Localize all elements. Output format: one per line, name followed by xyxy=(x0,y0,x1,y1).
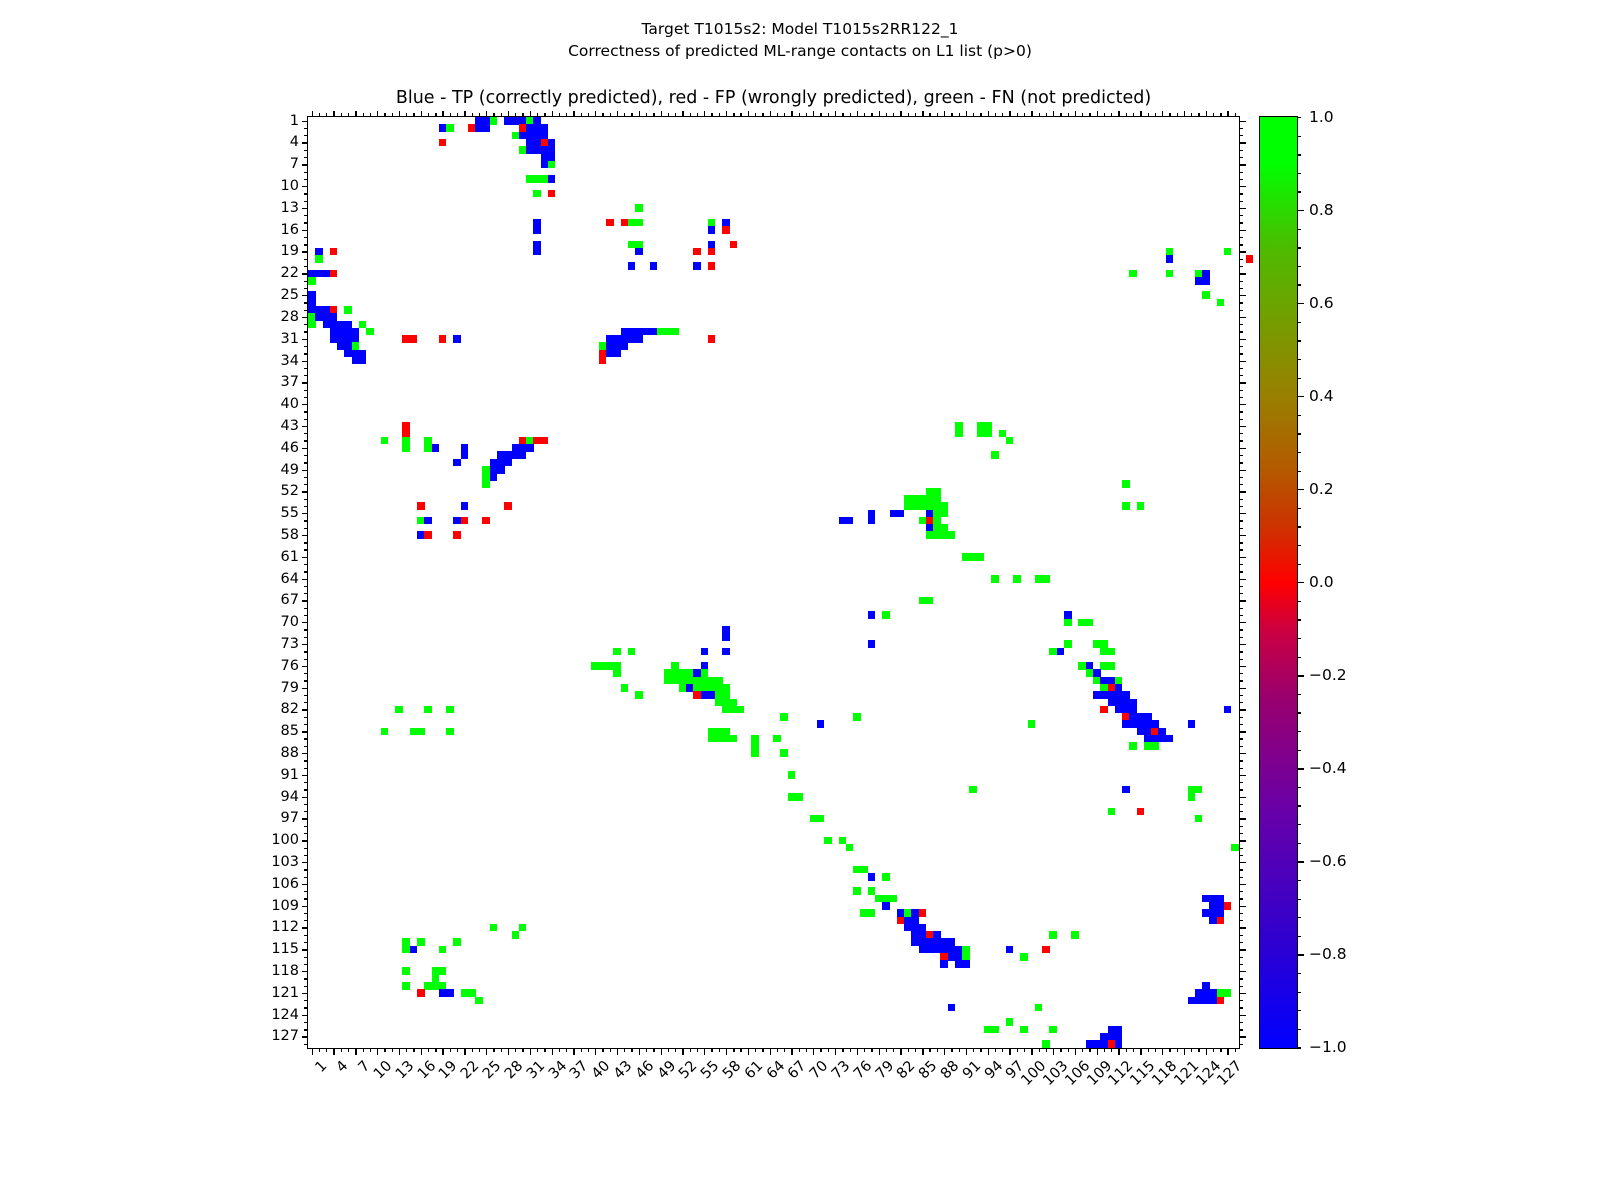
contact-cell xyxy=(722,226,730,234)
y-tick xyxy=(304,811,308,812)
y-tick xyxy=(302,317,309,318)
contact-cell xyxy=(650,262,658,270)
x-tick xyxy=(421,1048,422,1055)
y-tick xyxy=(302,295,309,296)
contact-cell xyxy=(882,873,890,881)
x-tick xyxy=(842,1048,843,1052)
y-tick xyxy=(304,957,308,958)
y-tick-right xyxy=(1239,186,1246,187)
y-tick xyxy=(304,549,308,550)
y-tick xyxy=(304,281,308,282)
contact-map-axes[interactable]: 1144771010131316161919222225252828313134… xyxy=(307,116,1240,1049)
y-tick-right xyxy=(1239,731,1246,732)
y-tick xyxy=(302,404,309,405)
x-tick xyxy=(762,1048,763,1052)
contact-cell xyxy=(424,517,432,525)
x-tick xyxy=(1140,1048,1141,1055)
y-tick xyxy=(304,310,308,311)
x-tick-top xyxy=(842,113,843,117)
y-tick-right xyxy=(1239,804,1243,805)
y-tick xyxy=(304,1022,308,1023)
y-tick-right xyxy=(1239,361,1246,362)
x-tick xyxy=(748,1048,749,1055)
contact-cell xyxy=(635,204,643,212)
contact-cell xyxy=(599,357,607,365)
colorbar-minor-tick xyxy=(1297,880,1301,881)
contact-cell xyxy=(1042,946,1050,954)
y-tick xyxy=(304,455,308,456)
contact-cell xyxy=(504,502,512,510)
colorbar-minor-tick xyxy=(1297,191,1301,192)
y-tick xyxy=(302,709,309,710)
contact-cell xyxy=(541,437,549,445)
y-tick-right xyxy=(1239,622,1246,623)
colorbar-minor-tick xyxy=(1297,247,1301,248)
y-tick xyxy=(302,1036,309,1037)
contact-cell xyxy=(1217,917,1225,925)
contact-cell xyxy=(635,691,643,699)
contact-cell xyxy=(548,190,556,198)
x-tick xyxy=(1133,1048,1134,1052)
y-tick xyxy=(302,840,309,841)
y-tick-label: 61 xyxy=(281,549,299,565)
contact-cell xyxy=(1217,997,1225,1005)
y-tick xyxy=(302,884,309,885)
y-tick-right xyxy=(1239,491,1246,492)
y-tick-label: 115 xyxy=(271,941,299,957)
y-tick xyxy=(304,520,308,521)
x-tick-top xyxy=(828,113,829,117)
x-tick xyxy=(820,1048,821,1052)
x-tick-top xyxy=(1097,111,1098,118)
x-tick-top xyxy=(1140,111,1141,118)
x-tick-top xyxy=(1184,111,1185,118)
contact-cell xyxy=(446,989,454,997)
colorbar-minor-tick xyxy=(1297,712,1301,713)
colorbar-minor-tick xyxy=(1297,471,1301,472)
x-tick-top xyxy=(1148,113,1149,117)
y-tick-right xyxy=(1239,404,1246,405)
x-tick xyxy=(857,1048,858,1055)
x-tick xyxy=(493,1048,494,1052)
contact-cell xyxy=(453,531,461,539)
y-tick-label: 67 xyxy=(281,592,299,608)
x-tick xyxy=(1024,1048,1025,1052)
contact-cell xyxy=(1115,1040,1123,1048)
x-tick xyxy=(791,1048,792,1055)
y-tick xyxy=(304,324,308,325)
x-tick xyxy=(1206,1048,1207,1055)
x-tick xyxy=(799,1048,800,1052)
contact-cell xyxy=(940,510,948,518)
x-tick xyxy=(835,1048,836,1055)
y-tick-right xyxy=(1239,273,1246,274)
x-tick xyxy=(879,1048,880,1055)
x-tick-top xyxy=(653,113,654,117)
y-tick-right xyxy=(1239,528,1243,529)
contact-cell xyxy=(1166,735,1174,743)
y-tick xyxy=(304,833,308,834)
y-tick xyxy=(302,971,309,972)
x-tick xyxy=(915,1048,916,1052)
y-tick xyxy=(304,1007,308,1008)
y-tick xyxy=(302,927,309,928)
y-tick xyxy=(304,848,308,849)
x-tick xyxy=(1075,1048,1076,1055)
y-tick-label: 109 xyxy=(271,898,299,914)
y-tick xyxy=(304,942,308,943)
y-tick-right xyxy=(1239,579,1246,580)
contact-cell xyxy=(991,451,999,459)
x-tick xyxy=(392,1048,393,1052)
y-tick xyxy=(304,804,308,805)
contact-cell xyxy=(1166,270,1174,278)
y-tick-right xyxy=(1239,986,1243,987)
contact-cell xyxy=(446,124,454,132)
x-tick-top xyxy=(929,113,930,117)
x-tick xyxy=(479,1048,480,1052)
x-tick-top xyxy=(522,113,523,117)
y-tick xyxy=(302,557,309,558)
y-tick-right xyxy=(1239,230,1246,231)
x-tick xyxy=(486,1048,487,1055)
contact-cell xyxy=(446,728,454,736)
colorbar-minor-tick xyxy=(1297,173,1301,174)
contact-cell xyxy=(693,248,701,256)
x-tick-top xyxy=(1206,111,1207,118)
x-tick-top xyxy=(704,111,705,118)
y-tick-right xyxy=(1239,506,1243,507)
x-tick-top xyxy=(762,113,763,117)
colorbar-minor-tick xyxy=(1297,229,1301,230)
contact-cell xyxy=(1071,931,1079,939)
contact-cell xyxy=(344,306,352,314)
y-tick xyxy=(302,426,309,427)
y-tick xyxy=(304,499,308,500)
y-tick xyxy=(304,702,308,703)
x-tick xyxy=(573,1048,574,1055)
contact-cell xyxy=(1108,648,1116,656)
y-tick xyxy=(304,288,308,289)
x-tick-top xyxy=(915,113,916,117)
contact-cell xyxy=(410,946,418,954)
colorbar-minor-tick xyxy=(1297,936,1301,937)
x-tick xyxy=(435,1048,436,1052)
y-tick xyxy=(302,448,309,449)
x-tick-top xyxy=(428,113,429,117)
y-tick-right xyxy=(1239,1044,1243,1045)
x-tick-top xyxy=(348,113,349,117)
contact-cell xyxy=(773,735,781,743)
y-tick xyxy=(304,390,308,391)
y-tick-right xyxy=(1239,651,1243,652)
x-tick xyxy=(566,1048,567,1052)
x-tick-top xyxy=(661,111,662,118)
x-tick-top xyxy=(1111,113,1112,117)
y-tick-right xyxy=(1239,782,1243,783)
colorbar-minor-tick xyxy=(1297,917,1301,918)
y-tick-right xyxy=(1239,215,1243,216)
colorbar-tick-label: −0.8 xyxy=(1309,945,1347,963)
colorbar-minor-tick xyxy=(1297,657,1301,658)
colorbar-minor-tick xyxy=(1297,340,1301,341)
y-tick xyxy=(304,353,308,354)
x-tick-top xyxy=(617,111,618,118)
y-tick-label: 37 xyxy=(281,374,299,390)
x-tick-top xyxy=(479,113,480,117)
y-tick-right xyxy=(1239,709,1246,710)
colorbar-minor-tick xyxy=(1297,545,1301,546)
y-tick xyxy=(302,579,309,580)
y-tick xyxy=(302,862,309,863)
y-tick-right xyxy=(1239,339,1246,340)
contact-cell xyxy=(890,895,898,903)
y-tick xyxy=(304,477,308,478)
colorbar: 1.00.80.60.40.20.0−0.2−0.4−0.6−0.8−1.0 xyxy=(1259,116,1298,1049)
y-tick-right xyxy=(1239,608,1243,609)
x-tick xyxy=(929,1048,930,1052)
contact-cell xyxy=(737,706,745,714)
y-tick-label: 16 xyxy=(281,222,299,238)
x-tick xyxy=(1104,1048,1105,1052)
contact-cell xyxy=(722,648,730,656)
x-tick xyxy=(646,1048,647,1052)
contact-cell xyxy=(1020,1026,1028,1034)
x-tick xyxy=(980,1048,981,1052)
y-tick-right xyxy=(1239,382,1246,383)
y-tick-right xyxy=(1239,789,1243,790)
y-tick-label: 73 xyxy=(281,636,299,652)
x-tick xyxy=(1184,1048,1185,1055)
x-tick xyxy=(522,1048,523,1052)
x-tick xyxy=(900,1048,901,1055)
y-tick-label: 76 xyxy=(281,658,299,674)
contact-cell xyxy=(366,328,374,336)
contact-cell xyxy=(1042,1040,1050,1048)
x-tick xyxy=(624,1048,625,1052)
contact-cell xyxy=(439,946,447,954)
contact-cell xyxy=(548,175,556,183)
contact-cell xyxy=(1195,815,1203,823)
contact-cell xyxy=(635,248,643,256)
y-tick-right xyxy=(1239,470,1246,471)
x-tick-top xyxy=(755,113,756,117)
x-tick xyxy=(544,1048,545,1052)
x-tick xyxy=(631,1048,632,1052)
x-tick xyxy=(501,1048,502,1052)
contact-cell xyxy=(519,451,527,459)
y-tick xyxy=(304,695,308,696)
figure-root: Target T1015s2: Model T1015s2RR122_1 Cor… xyxy=(0,0,1600,1200)
contact-cell xyxy=(853,713,861,721)
x-tick-top xyxy=(697,113,698,117)
x-tick-top xyxy=(501,113,502,117)
y-tick xyxy=(304,375,308,376)
contact-map-cells xyxy=(308,117,1239,1048)
y-tick xyxy=(304,673,308,674)
contact-cell xyxy=(1108,662,1116,670)
colorbar-minor-tick xyxy=(1297,899,1301,900)
y-tick-label: 64 xyxy=(281,571,299,587)
y-tick xyxy=(304,542,308,543)
contact-cell xyxy=(708,248,716,256)
x-tick xyxy=(1002,1048,1003,1052)
contact-cell xyxy=(453,335,461,343)
x-tick-top xyxy=(1198,113,1199,117)
x-tick-label: 46 xyxy=(633,1058,657,1082)
y-tick-right xyxy=(1239,826,1243,827)
y-tick-label: 4 xyxy=(290,134,299,150)
x-tick-top xyxy=(1075,111,1076,118)
colorbar-minor-tick xyxy=(1297,694,1301,695)
colorbar-minor-tick xyxy=(1297,303,1301,304)
colorbar-minor-tick xyxy=(1297,284,1301,285)
y-tick xyxy=(304,869,308,870)
contact-cell xyxy=(1246,255,1254,263)
contact-cell xyxy=(533,226,541,234)
y-tick-right xyxy=(1239,288,1243,289)
y-tick-right xyxy=(1239,426,1246,427)
y-tick xyxy=(304,179,308,180)
y-tick-right xyxy=(1239,862,1246,863)
x-tick-top xyxy=(355,111,356,118)
contact-cell xyxy=(461,502,469,510)
x-tick xyxy=(457,1048,458,1052)
y-tick-right xyxy=(1239,535,1246,536)
x-tick-label: 73 xyxy=(829,1058,853,1082)
y-tick xyxy=(302,142,309,143)
y-tick-right xyxy=(1239,455,1243,456)
y-tick xyxy=(302,731,309,732)
x-tick-top xyxy=(392,113,393,117)
contact-cell xyxy=(613,648,621,656)
y-tick xyxy=(304,855,308,856)
y-tick-label: 70 xyxy=(281,614,299,630)
y-tick xyxy=(302,1015,309,1016)
y-tick-right xyxy=(1239,324,1243,325)
contact-cell xyxy=(453,459,461,467)
y-tick xyxy=(304,608,308,609)
y-tick-right xyxy=(1239,848,1243,849)
contact-cell xyxy=(693,262,701,270)
contact-cell xyxy=(671,328,679,336)
contact-cell xyxy=(417,728,425,736)
y-tick-right xyxy=(1239,484,1243,485)
contact-cell xyxy=(846,844,854,852)
y-tick-label: 19 xyxy=(281,243,299,259)
y-tick-right xyxy=(1239,957,1243,958)
x-tick-top xyxy=(566,113,567,117)
contact-cell xyxy=(868,611,876,619)
contact-cell xyxy=(1129,742,1137,750)
y-tick-right xyxy=(1239,353,1243,354)
y-tick-label: 106 xyxy=(271,876,299,892)
y-tick-right xyxy=(1239,564,1243,565)
x-tick xyxy=(682,1048,683,1055)
contact-cell xyxy=(940,960,948,968)
x-tick-top xyxy=(399,111,400,118)
y-tick-right xyxy=(1239,659,1243,660)
contact-cell xyxy=(439,967,447,975)
x-tick xyxy=(377,1048,378,1055)
x-tick-top xyxy=(740,113,741,117)
y-tick-right xyxy=(1239,818,1246,819)
x-tick xyxy=(1053,1048,1054,1055)
colorbar-minor-tick xyxy=(1297,619,1301,620)
y-tick-right xyxy=(1239,397,1243,398)
x-tick-label: 1 xyxy=(312,1058,330,1076)
y-tick xyxy=(304,222,308,223)
y-tick-right xyxy=(1239,237,1243,238)
figure-suptitle: Target T1015s2: Model T1015s2RR122_1 Cor… xyxy=(0,18,1600,63)
x-tick xyxy=(959,1048,960,1052)
y-tick xyxy=(304,484,308,485)
x-tick-top xyxy=(690,113,691,117)
contact-cell xyxy=(308,277,316,285)
colorbar-minor-tick xyxy=(1297,675,1301,676)
x-tick xyxy=(668,1048,669,1052)
x-tick xyxy=(1118,1048,1119,1055)
contact-cell xyxy=(548,161,556,169)
y-tick-right xyxy=(1239,724,1243,725)
x-tick-top xyxy=(363,113,364,117)
x-tick-label: 43 xyxy=(611,1058,635,1082)
y-tick-right xyxy=(1239,717,1243,718)
x-tick xyxy=(726,1048,727,1055)
contact-cell xyxy=(1049,931,1057,939)
x-tick xyxy=(886,1048,887,1052)
y-tick-right xyxy=(1239,898,1243,899)
x-tick-top xyxy=(646,113,647,117)
x-tick-top xyxy=(610,113,611,117)
contact-cell xyxy=(410,335,418,343)
y-tick-label: 25 xyxy=(281,287,299,303)
y-tick xyxy=(302,622,309,623)
contact-cell xyxy=(991,1026,999,1034)
x-tick xyxy=(1039,1048,1040,1052)
y-tick-right xyxy=(1239,346,1243,347)
y-tick-right xyxy=(1239,877,1243,878)
y-tick-label: 100 xyxy=(271,832,299,848)
contact-cell xyxy=(621,342,629,350)
x-tick xyxy=(1068,1048,1069,1052)
x-tick xyxy=(1082,1048,1083,1052)
y-tick-right xyxy=(1239,477,1243,478)
y-tick-right xyxy=(1239,462,1243,463)
x-tick-label: 7 xyxy=(356,1058,374,1076)
y-tick-label: 79 xyxy=(281,680,299,696)
y-tick-right xyxy=(1239,629,1243,630)
x-tick-top xyxy=(581,113,582,117)
x-tick xyxy=(552,1048,553,1055)
x-tick-top xyxy=(835,111,836,118)
x-tick xyxy=(530,1048,531,1055)
contact-cell xyxy=(417,938,425,946)
contact-cell xyxy=(780,749,788,757)
y-tick xyxy=(304,346,308,347)
y-tick xyxy=(304,826,308,827)
contact-cell xyxy=(439,335,447,343)
colorbar-minor-tick xyxy=(1297,564,1301,565)
x-tick-top xyxy=(966,111,967,118)
y-tick-right xyxy=(1239,1000,1243,1001)
x-tick-top xyxy=(1118,111,1119,118)
colorbar-minor-tick xyxy=(1297,1029,1301,1030)
y-tick-right xyxy=(1239,172,1243,173)
contact-cell xyxy=(482,480,490,488)
x-tick-label: 10 xyxy=(371,1058,395,1082)
y-tick-right xyxy=(1239,557,1246,558)
